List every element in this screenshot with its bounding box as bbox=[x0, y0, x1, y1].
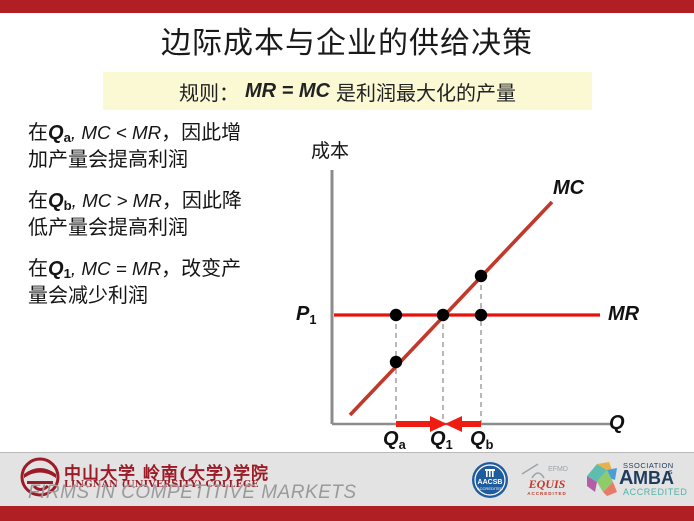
svg-text:A: A bbox=[619, 467, 633, 489]
x-axis-label: Q bbox=[609, 412, 625, 435]
svg-text:ACCREDITED: ACCREDITED bbox=[527, 491, 567, 496]
tick-q1-sub: 1 bbox=[446, 437, 453, 452]
mc-mr-chart bbox=[0, 0, 694, 521]
tick-label-q1: Q1 bbox=[430, 428, 453, 451]
tick-label-qb: Qb bbox=[470, 428, 493, 451]
tick-qa-letter: Q bbox=[383, 428, 399, 450]
marker-q1-intersection bbox=[437, 309, 449, 321]
tick-qa-sub: a bbox=[399, 437, 406, 452]
svg-text:EQUIS: EQUIS bbox=[528, 477, 566, 491]
mc-curve-label: MC bbox=[553, 177, 584, 200]
svg-text:ACCREDITED: ACCREDITED bbox=[623, 487, 687, 497]
marker-qa-mc bbox=[390, 356, 402, 368]
bottom-accent-bar bbox=[0, 506, 694, 521]
tick-q1-letter: Q bbox=[430, 428, 446, 450]
svg-text:AACSB: AACSB bbox=[478, 479, 503, 486]
aacsb-accreditation-icon: AACSB ACCREDITED bbox=[470, 458, 510, 502]
tick-qb-sub: b bbox=[486, 437, 494, 452]
slide-canvas: 边际成本与企业的供给决策 规则： MR = MC 是利润最大化的产量 在Qa, … bbox=[0, 0, 694, 521]
tick-label-qa: Qa bbox=[383, 428, 406, 451]
equis-accreditation-icon: EFMD EQUIS ACCREDITED bbox=[518, 458, 576, 502]
mr-curve-label: MR bbox=[608, 303, 639, 326]
marker-qa-mr bbox=[390, 309, 402, 321]
y-axis-label: 成本 bbox=[311, 136, 349, 163]
footer-divider bbox=[0, 452, 694, 453]
footer-section-title: FIRMS IN COMPETITIVE MARKETS bbox=[28, 482, 357, 504]
price-label-p1: P1 bbox=[296, 303, 316, 326]
marker-qb-mr bbox=[475, 309, 487, 321]
price-label-sub: 1 bbox=[309, 312, 316, 327]
price-label-letter: P bbox=[296, 303, 309, 325]
tick-qb-letter: Q bbox=[470, 428, 486, 450]
svg-text:s: s bbox=[669, 469, 673, 476]
svg-text:MBA: MBA bbox=[633, 468, 674, 488]
mc-curve bbox=[350, 202, 552, 415]
amba-accreditation-icon: SSOCIATION A MBA s ACCREDITED bbox=[583, 458, 687, 502]
svg-text:ACCREDITED: ACCREDITED bbox=[477, 486, 503, 491]
svg-text:EFMD: EFMD bbox=[548, 466, 568, 473]
marker-qb-mc bbox=[475, 270, 487, 282]
